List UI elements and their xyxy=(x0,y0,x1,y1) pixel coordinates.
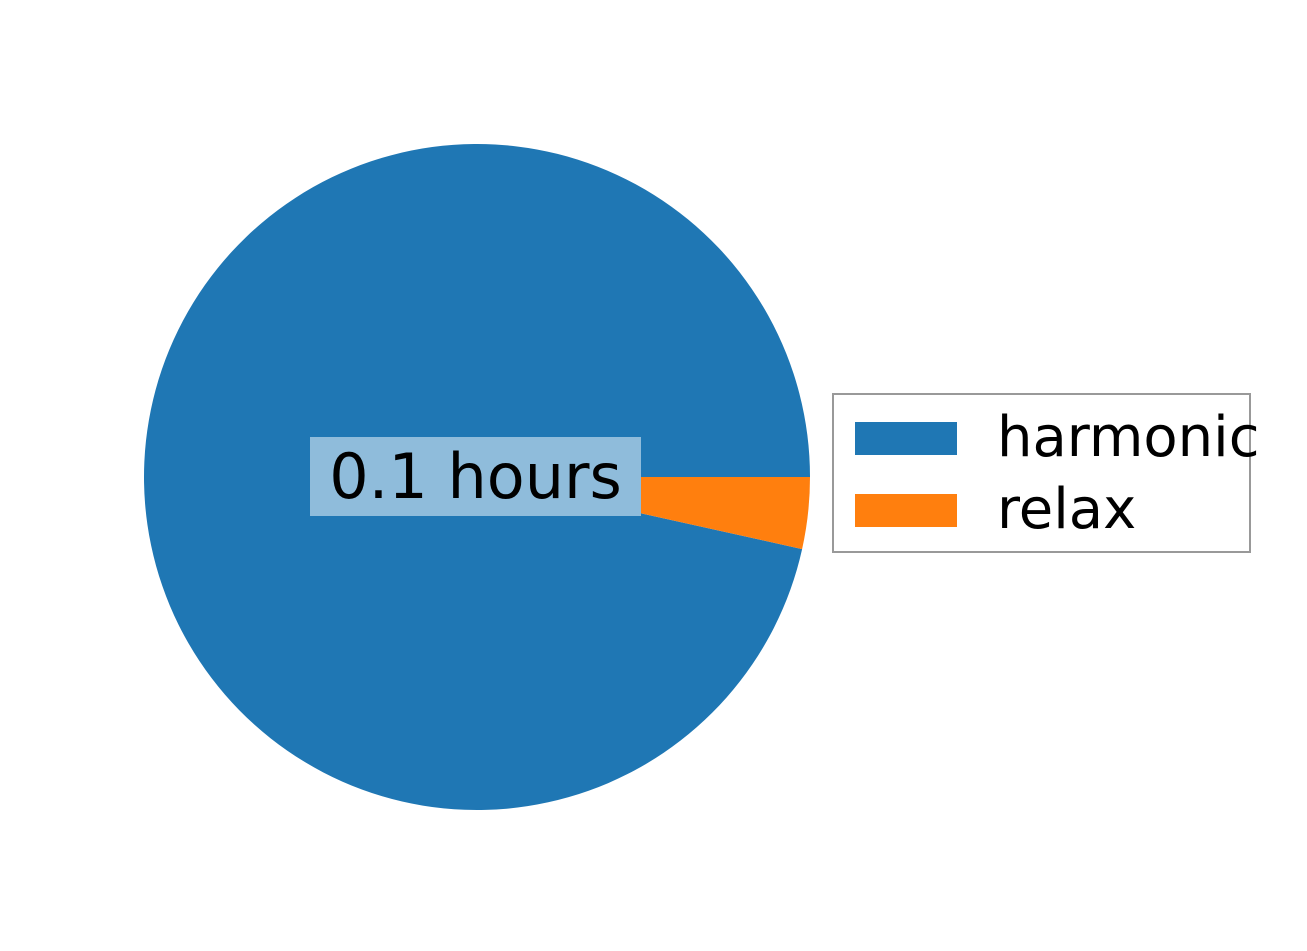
legend-swatch-relax xyxy=(855,494,957,527)
legend-item-harmonic[interactable]: harmonic xyxy=(855,410,1260,466)
chart-legend: harmonic relax xyxy=(832,393,1251,553)
pie-chart-figure: 0.1 hours harmonic relax xyxy=(0,0,1307,951)
legend-item-relax[interactable]: relax xyxy=(855,482,1136,538)
legend-swatch-harmonic xyxy=(855,422,957,455)
legend-label-relax: relax xyxy=(997,482,1136,538)
pie-slice-label-harmonic: 0.1 hours xyxy=(310,437,641,516)
legend-label-harmonic: harmonic xyxy=(997,410,1260,466)
pie-slice-label-text: 0.1 hours xyxy=(329,446,622,508)
